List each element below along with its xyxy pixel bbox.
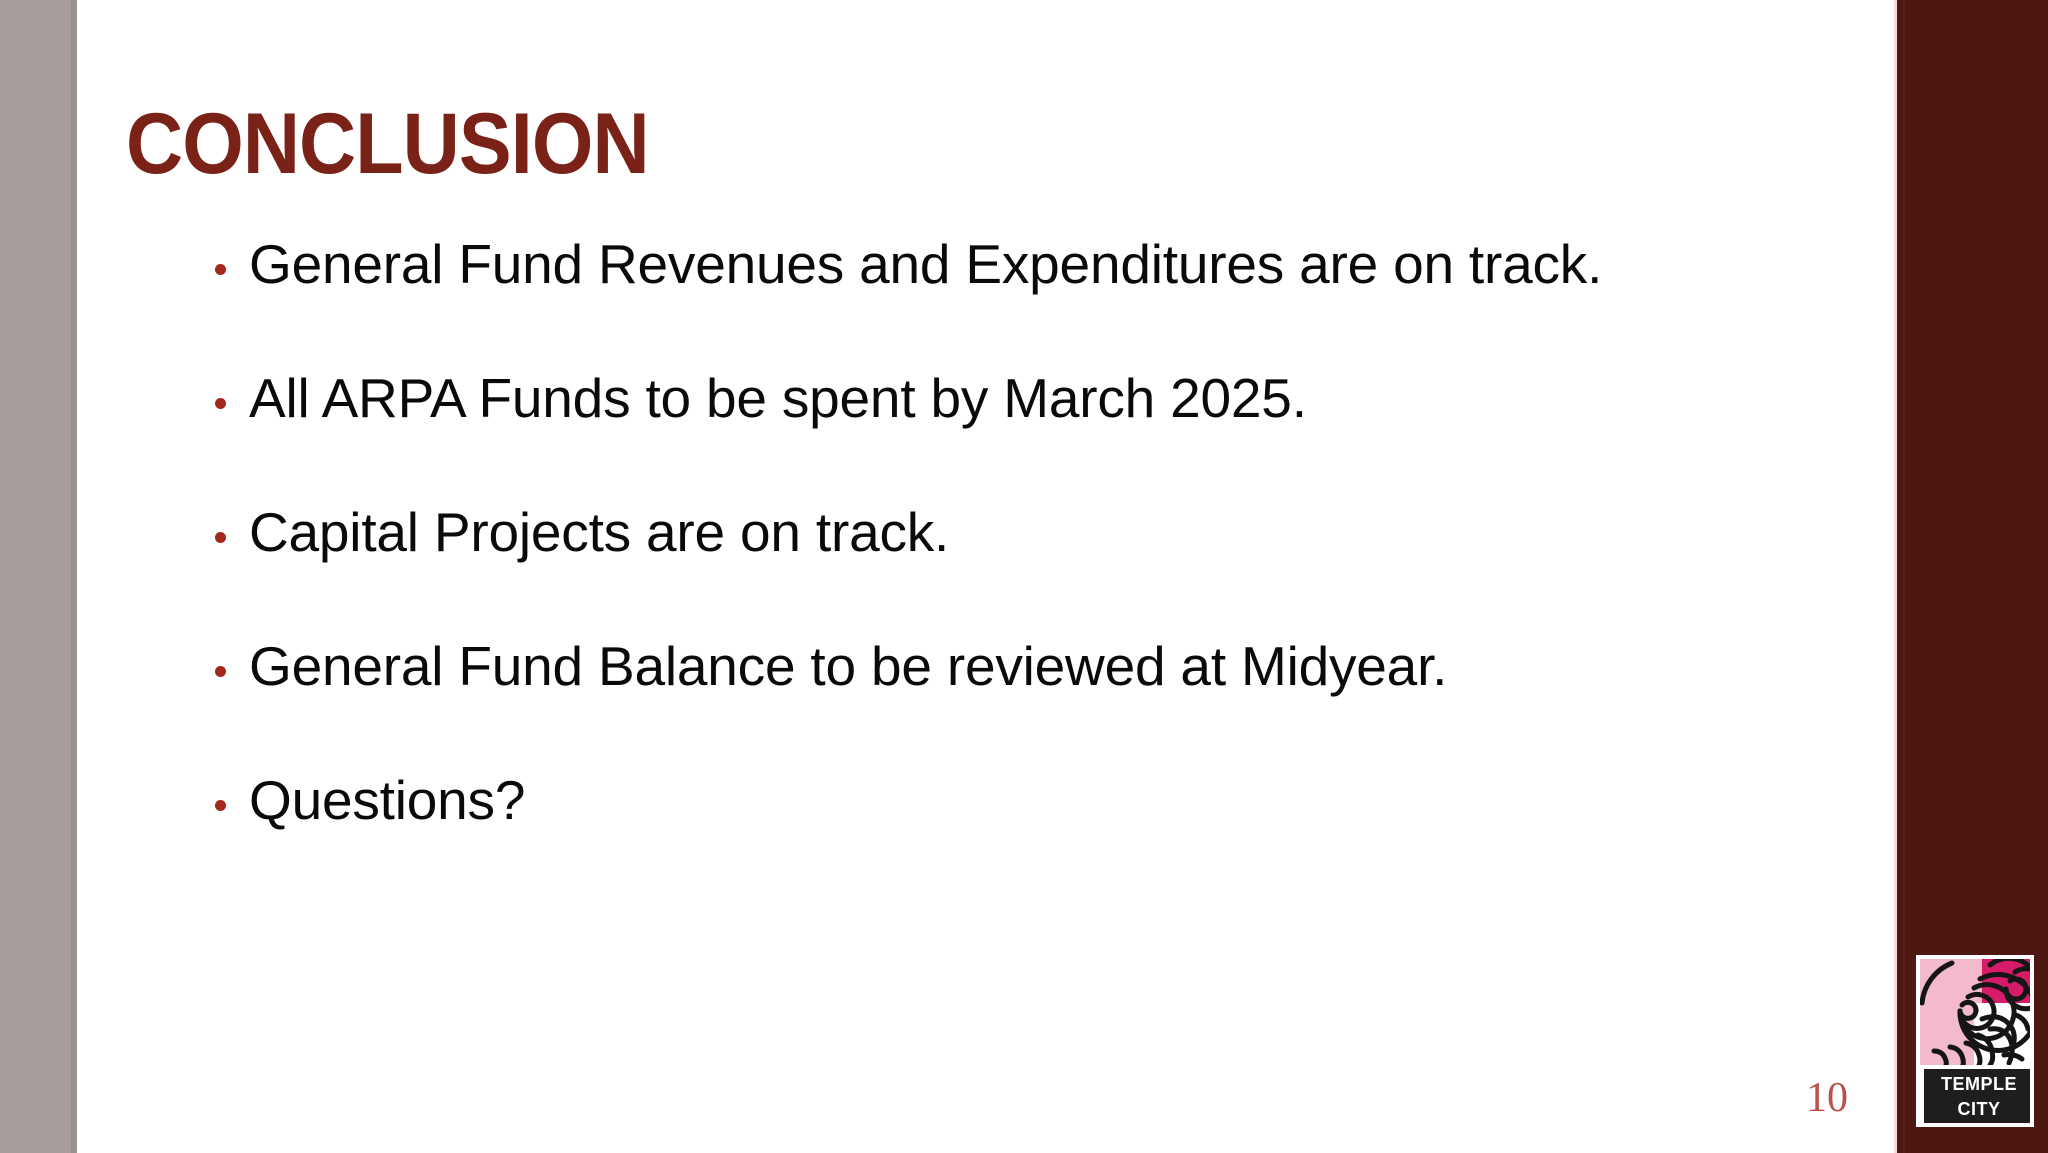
list-item: General Fund Balance to be reviewed at M… [208, 630, 1828, 702]
bullet-dot-icon [215, 532, 226, 543]
logo-caption-line-2: CITY [1924, 1097, 2034, 1122]
bullet-list: General Fund Revenues and Expenditures a… [208, 228, 1828, 836]
bullet-dot-icon [215, 800, 226, 811]
temple-city-logo: TEMPLE CITY [1916, 955, 2034, 1127]
left-accent-bar [0, 0, 71, 1153]
list-item-label: General Fund Revenues and Expenditures a… [249, 228, 1779, 300]
bullet-dot-icon [215, 264, 226, 275]
logo-caption: TEMPLE CITY [1924, 1069, 2034, 1123]
list-item: Questions? [208, 764, 1828, 836]
rose-emblem-icon [1920, 959, 2030, 1065]
presentation-slide: CONCLUSION General Fund Revenues and Exp… [0, 0, 2048, 1153]
bullet-dot-icon [215, 398, 226, 409]
left-accent-bar-edge [71, 0, 77, 1153]
list-item: General Fund Revenues and Expenditures a… [208, 228, 1828, 300]
logo-caption-line-1: TEMPLE [1924, 1072, 2034, 1097]
list-item: All ARPA Funds to be spent by March 2025… [208, 362, 1828, 434]
list-item-label: Questions? [249, 764, 1828, 836]
list-item-label: General Fund Balance to be reviewed at M… [249, 630, 1828, 702]
list-item: Capital Projects are on track. [208, 496, 1828, 568]
list-item-label: All ARPA Funds to be spent by March 2025… [249, 362, 1828, 434]
bullet-dot-icon [215, 666, 226, 677]
list-item-label: Capital Projects are on track. [249, 496, 1828, 568]
slide-title: CONCLUSION [126, 96, 649, 192]
rose-outline-icon [1920, 959, 2030, 1065]
page-number: 10 [1806, 1075, 1848, 1121]
right-accent-bar-inner-line [1903, 0, 1905, 1153]
